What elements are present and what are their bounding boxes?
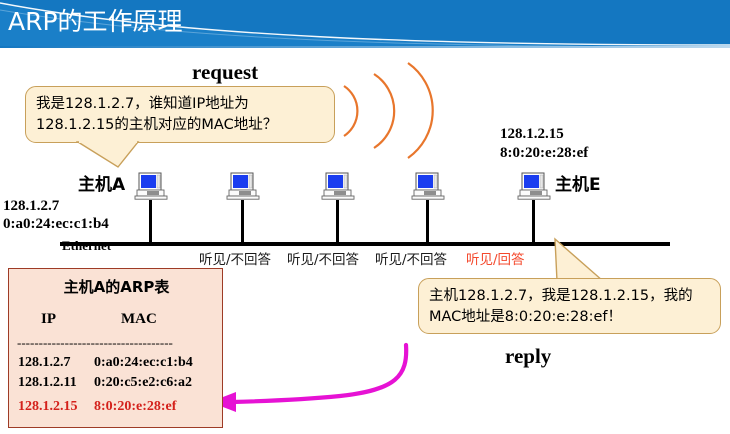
computer-icon-host-b — [226, 172, 260, 202]
arp-row-ip: 128.1.2.11 — [18, 375, 77, 391]
arp-row-ip: 128.1.2.7 — [18, 355, 71, 371]
page-title: ARP的工作原理 — [8, 2, 183, 38]
arp-request-callout: 我是128.1.2.7，谁知道IP地址为 128.1.2.15的主机对应的MAC… — [25, 86, 335, 143]
arp-request-callout-tail — [76, 140, 176, 170]
host-e-mac-label: 8:0:20:e:28:ef — [500, 145, 588, 162]
request-label: request — [192, 60, 258, 85]
host-a-name-label: 主机A — [78, 170, 125, 195]
arp-request-text: 我是128.1.2.7，谁知道IP地址为 128.1.2.15的主机对应的MAC… — [26, 87, 334, 142]
broadcast-wave-arcs — [330, 58, 460, 163]
slide-header: ARP的工作原理 — [0, 0, 730, 47]
host-a-link-line — [149, 200, 152, 244]
arp-row-ip: 128.1.2.15 — [18, 399, 78, 415]
response-label-host-d: 听见/不回答 — [375, 248, 447, 268]
arp-table-update-arrow — [190, 330, 520, 430]
host-a-mac-label: 0:a0:24:ec:c1:b4 — [3, 216, 109, 233]
computer-icon-host-d — [411, 172, 445, 202]
response-label-host-b: 听见/不回答 — [199, 248, 271, 268]
arp-column-header-mac: MAC — [121, 311, 157, 328]
computer-icon-host-e — [517, 172, 551, 202]
arp-row-mac: 0:20:c5:e2:c6:a2 — [94, 375, 192, 391]
host-c-link-line — [336, 200, 339, 244]
computer-icon-host-a — [134, 172, 168, 202]
arp-row-mac: 0:a0:24:ec:c1:b4 — [94, 355, 193, 371]
arp-reply-text: 主机128.1.2.7，我是128.1.2.15，我的 MAC地址是8:0:20… — [419, 279, 720, 334]
host-e-ip-label: 128.1.2.15 — [500, 126, 564, 143]
host-d-link-line — [426, 200, 429, 244]
header-underline — [0, 46, 730, 48]
response-label-host-c: 听见/不回答 — [287, 248, 359, 268]
arp-table-title: 主机A的ARP表 — [9, 276, 224, 297]
arp-reply-callout-tail — [500, 232, 620, 284]
host-b-link-line — [241, 200, 244, 244]
host-e-name-label: 主机E — [555, 170, 601, 195]
arp-table-panel: 主机A的ARP表 IP MAC ------------------------… — [8, 268, 223, 428]
arp-reply-callout: 主机128.1.2.7，我是128.1.2.15，我的 MAC地址是8:0:20… — [418, 278, 721, 334]
ethernet-bus-label: Ethernet — [62, 238, 111, 254]
computer-icon-host-c — [321, 172, 355, 202]
arp-column-header-ip: IP — [41, 311, 56, 328]
arp-row-mac: 8:0:20:e:28:ef — [94, 399, 176, 415]
host-a-ip-label: 128.1.2.7 — [3, 198, 59, 215]
arp-table-divider: ------------------------------------ — [17, 335, 215, 351]
